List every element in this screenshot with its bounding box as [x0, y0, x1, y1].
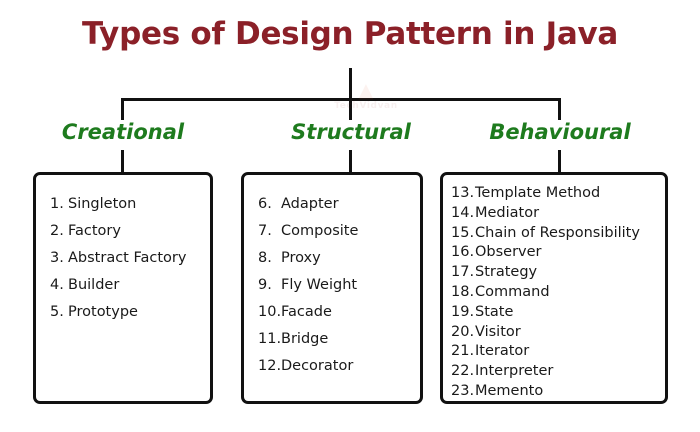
list-item-label: Template Method	[475, 184, 600, 204]
list-item-number: 16.	[451, 243, 475, 263]
list-item: 22.Interpreter	[451, 362, 665, 382]
list-item-number: 4.	[50, 272, 68, 299]
category-heading-creational: Creational	[62, 120, 184, 144]
list-item-label: Visitor	[475, 323, 521, 343]
list-item-label: Strategy	[475, 263, 537, 283]
connector-heading-to-box-structural	[349, 150, 352, 173]
connector-drop-creational	[121, 98, 124, 120]
pattern-list-structural: 6.Adapter 7.Composite 8.Proxy 9.Fly Weig…	[244, 175, 420, 380]
list-item-number: 11.	[258, 326, 281, 353]
list-item: 2.Factory	[50, 218, 210, 245]
list-item-number: 17.	[451, 263, 475, 283]
list-item: 19.State	[451, 303, 665, 323]
connector-heading-to-box-behavioural	[558, 150, 561, 173]
list-item-number: 10.	[258, 299, 281, 326]
list-item-number: 12.	[258, 353, 281, 380]
pattern-box-structural: ▲ TechVidvan 6.Adapter 7.Composite 8.Pro…	[241, 172, 423, 404]
list-item-label: Builder	[68, 272, 119, 299]
list-item-number: 19.	[451, 303, 475, 323]
list-item: 7.Composite	[258, 218, 420, 245]
pattern-list-behavioural: 13.Template Method 14.Mediator 15.Chain …	[443, 175, 665, 402]
connector-drop-structural	[349, 98, 352, 120]
list-item-label: Decorator	[281, 353, 353, 380]
list-item-label: Composite	[281, 218, 358, 245]
list-item: 9.Fly Weight	[258, 272, 420, 299]
pattern-box-behavioural: ▲ TechVidvan 13.Template Method 14.Media…	[440, 172, 668, 404]
list-item-label: Observer	[475, 243, 542, 263]
list-item: 15.Chain of Responsibility	[451, 224, 665, 244]
list-item-label: Prototype	[68, 299, 138, 326]
list-item-number: 14.	[451, 204, 475, 224]
pattern-list-creational: 1.Singleton 2.Factory 3.Abstract Factory…	[36, 175, 210, 326]
list-item: 20.Visitor	[451, 323, 665, 343]
list-item: 14.Mediator	[451, 204, 665, 224]
list-item: 18.Command	[451, 283, 665, 303]
connector-stem	[349, 68, 352, 100]
watermark-top: ▲ TechVidvan	[330, 80, 402, 111]
list-item-label: Command	[475, 283, 550, 303]
list-item-label: Chain of Responsibility	[475, 224, 640, 244]
list-item: 6.Adapter	[258, 191, 420, 218]
list-item-number: 22.	[451, 362, 475, 382]
watermark-logo-icon: ▲	[330, 80, 402, 100]
list-item-number: 20.	[451, 323, 475, 343]
list-item-number: 23.	[451, 382, 475, 402]
list-item-label: Adapter	[281, 191, 339, 218]
list-item-label: Iterator	[475, 342, 529, 362]
diagram-canvas: Types of Design Pattern in Java ▲ TechVi…	[0, 0, 700, 432]
list-item-number: 7.	[258, 218, 281, 245]
list-item-label: Fly Weight	[281, 272, 357, 299]
list-item: 8.Proxy	[258, 245, 420, 272]
page-title: Types of Design Pattern in Java	[0, 16, 700, 52]
connector-drop-behavioural	[558, 98, 561, 120]
list-item-number: 5.	[50, 299, 68, 326]
list-item: 11.Bridge	[258, 326, 420, 353]
list-item: 13.Template Method	[451, 184, 665, 204]
connector-heading-to-box-creational	[121, 150, 124, 173]
category-heading-structural: Structural	[291, 120, 411, 144]
list-item-number: 15.	[451, 224, 475, 244]
list-item: 3.Abstract Factory	[50, 245, 210, 272]
list-item-label: Bridge	[281, 326, 328, 353]
list-item: 23.Memento	[451, 382, 665, 402]
list-item-label: Abstract Factory	[68, 245, 186, 272]
list-item-label: Interpreter	[475, 362, 553, 382]
list-item-number: 6.	[258, 191, 281, 218]
list-item-number: 8.	[258, 245, 281, 272]
list-item-number: 13.	[451, 184, 475, 204]
list-item-number: 9.	[258, 272, 281, 299]
list-item: 12.Decorator	[258, 353, 420, 380]
list-item-label: Singleton	[68, 191, 136, 218]
list-item-label: Factory	[68, 218, 121, 245]
list-item-number: 2.	[50, 218, 68, 245]
list-item: 17.Strategy	[451, 263, 665, 283]
category-heading-behavioural: Behavioural	[489, 120, 630, 144]
list-item-number: 3.	[50, 245, 68, 272]
list-item-label: State	[475, 303, 513, 323]
list-item-number: 21.	[451, 342, 475, 362]
list-item-label: Proxy	[281, 245, 321, 272]
list-item: 4.Builder	[50, 272, 210, 299]
list-item: 5.Prototype	[50, 299, 210, 326]
list-item: 10.Facade	[258, 299, 420, 326]
list-item-number: 18.	[451, 283, 475, 303]
list-item: 1.Singleton	[50, 191, 210, 218]
list-item-label: Mediator	[475, 204, 539, 224]
pattern-box-creational: ▲ TechVidvan 1.Singleton 2.Factory 3.Abs…	[33, 172, 213, 404]
list-item-label: Memento	[475, 382, 543, 402]
list-item-number: 1.	[50, 191, 68, 218]
connector-horizontal-bus	[121, 98, 561, 101]
watermark-label: TechVidvan	[330, 101, 402, 111]
list-item-label: Facade	[281, 299, 332, 326]
list-item: 16.Observer	[451, 243, 665, 263]
list-item: 21.Iterator	[451, 342, 665, 362]
